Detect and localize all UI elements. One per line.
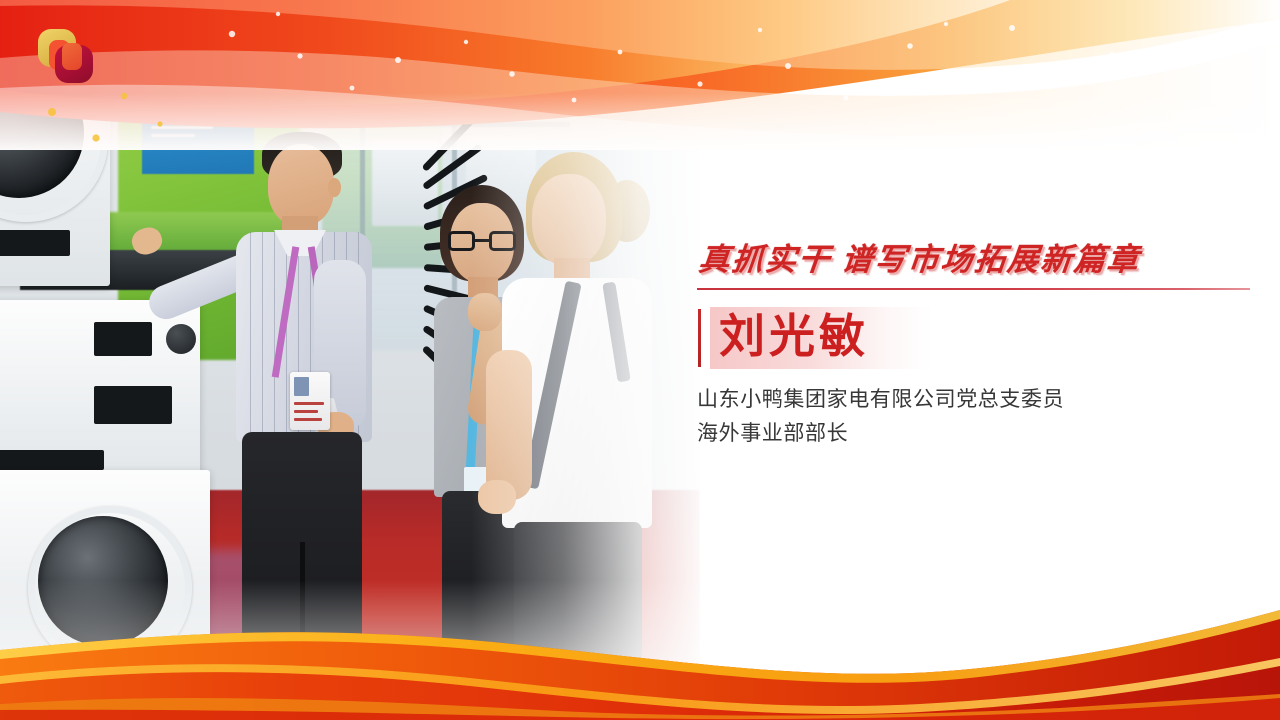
headline-title: 真抓实干 谱写市场拓展新篇章 <box>697 244 1260 277</box>
company-monogram-logo[interactable] <box>38 29 94 83</box>
speaker-title-block: 山东小鸭集团家电有限公司党总支委员 海外事业部部长 <box>697 383 1257 451</box>
bottom-ribbon-banner <box>0 592 1280 720</box>
speaker-title-line-1: 山东小鸭集团家电有限公司党总支委员 <box>697 383 1257 417</box>
bottom-ribbon-svg <box>0 592 1280 720</box>
slide-canvas: 真抓实干 谱写市场拓展新篇章 刘光敏 山东小鸭集团家电有限公司党总支委员 海外事… <box>0 0 1280 720</box>
speaker-name: 刘光敏 <box>719 306 869 368</box>
top-ribbon-svg <box>0 0 1280 150</box>
logo-crimson-shape <box>55 45 93 83</box>
title-divider <box>697 288 1250 290</box>
name-accent-bar <box>698 309 701 367</box>
speaker-name-row: 刘光敏 <box>697 307 1257 369</box>
speaker-title-line-2: 海外事业部部长 <box>697 417 1257 451</box>
top-ribbon-banner <box>0 0 1280 150</box>
caption-text-block: 真抓实干 谱写市场拓展新篇章 刘光敏 山东小鸭集团家电有限公司党总支委员 海外事… <box>697 244 1257 451</box>
